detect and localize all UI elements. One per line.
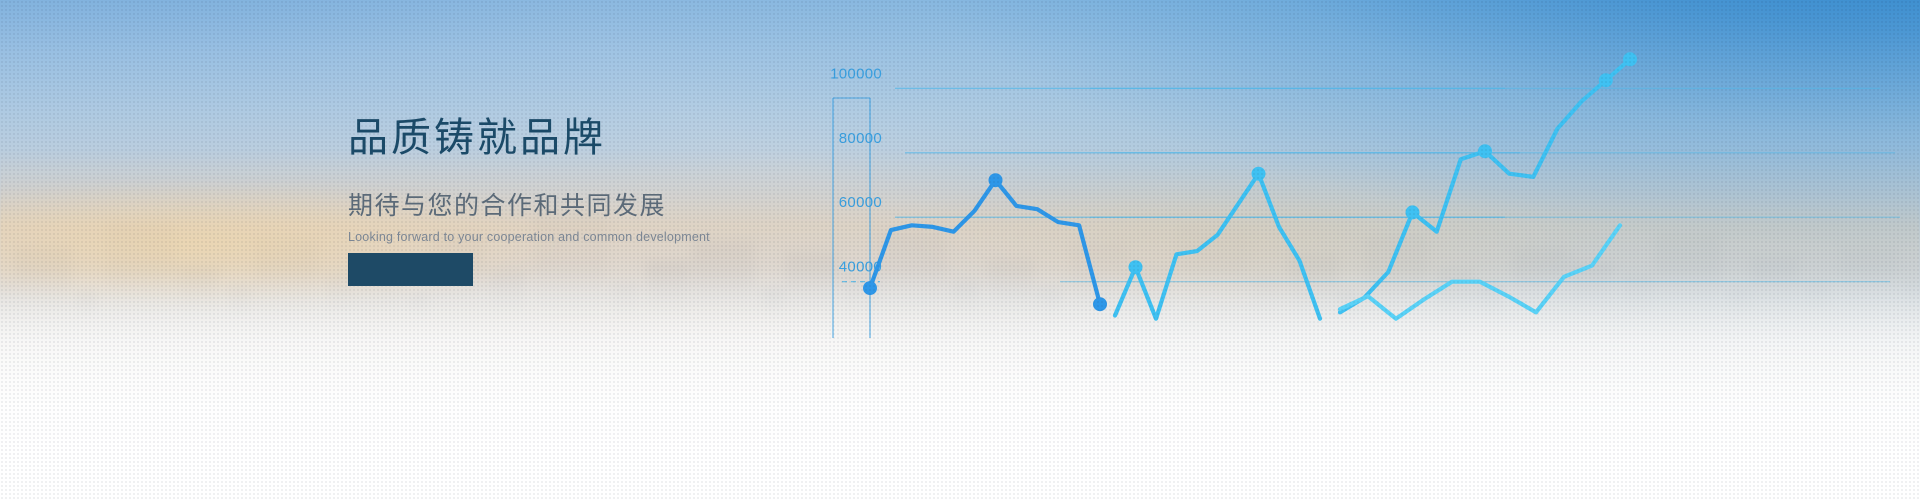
- subtitle-english: Looking forward to your cooperation and …: [348, 231, 768, 244]
- halftone-texture-overlay: [0, 0, 1920, 500]
- hero-copy-block: 品质铸就品牌 期待与您的合作和共同发展 Looking forward to y…: [348, 118, 768, 244]
- hero-banner: 100000800006000040000 品质铸就品牌 期待与您的合作和共同发…: [0, 0, 1920, 500]
- page-title: 品质铸就品牌: [348, 118, 768, 158]
- subtitle-chinese: 期待与您的合作和共同发展: [348, 194, 768, 219]
- cta-button[interactable]: [348, 253, 473, 286]
